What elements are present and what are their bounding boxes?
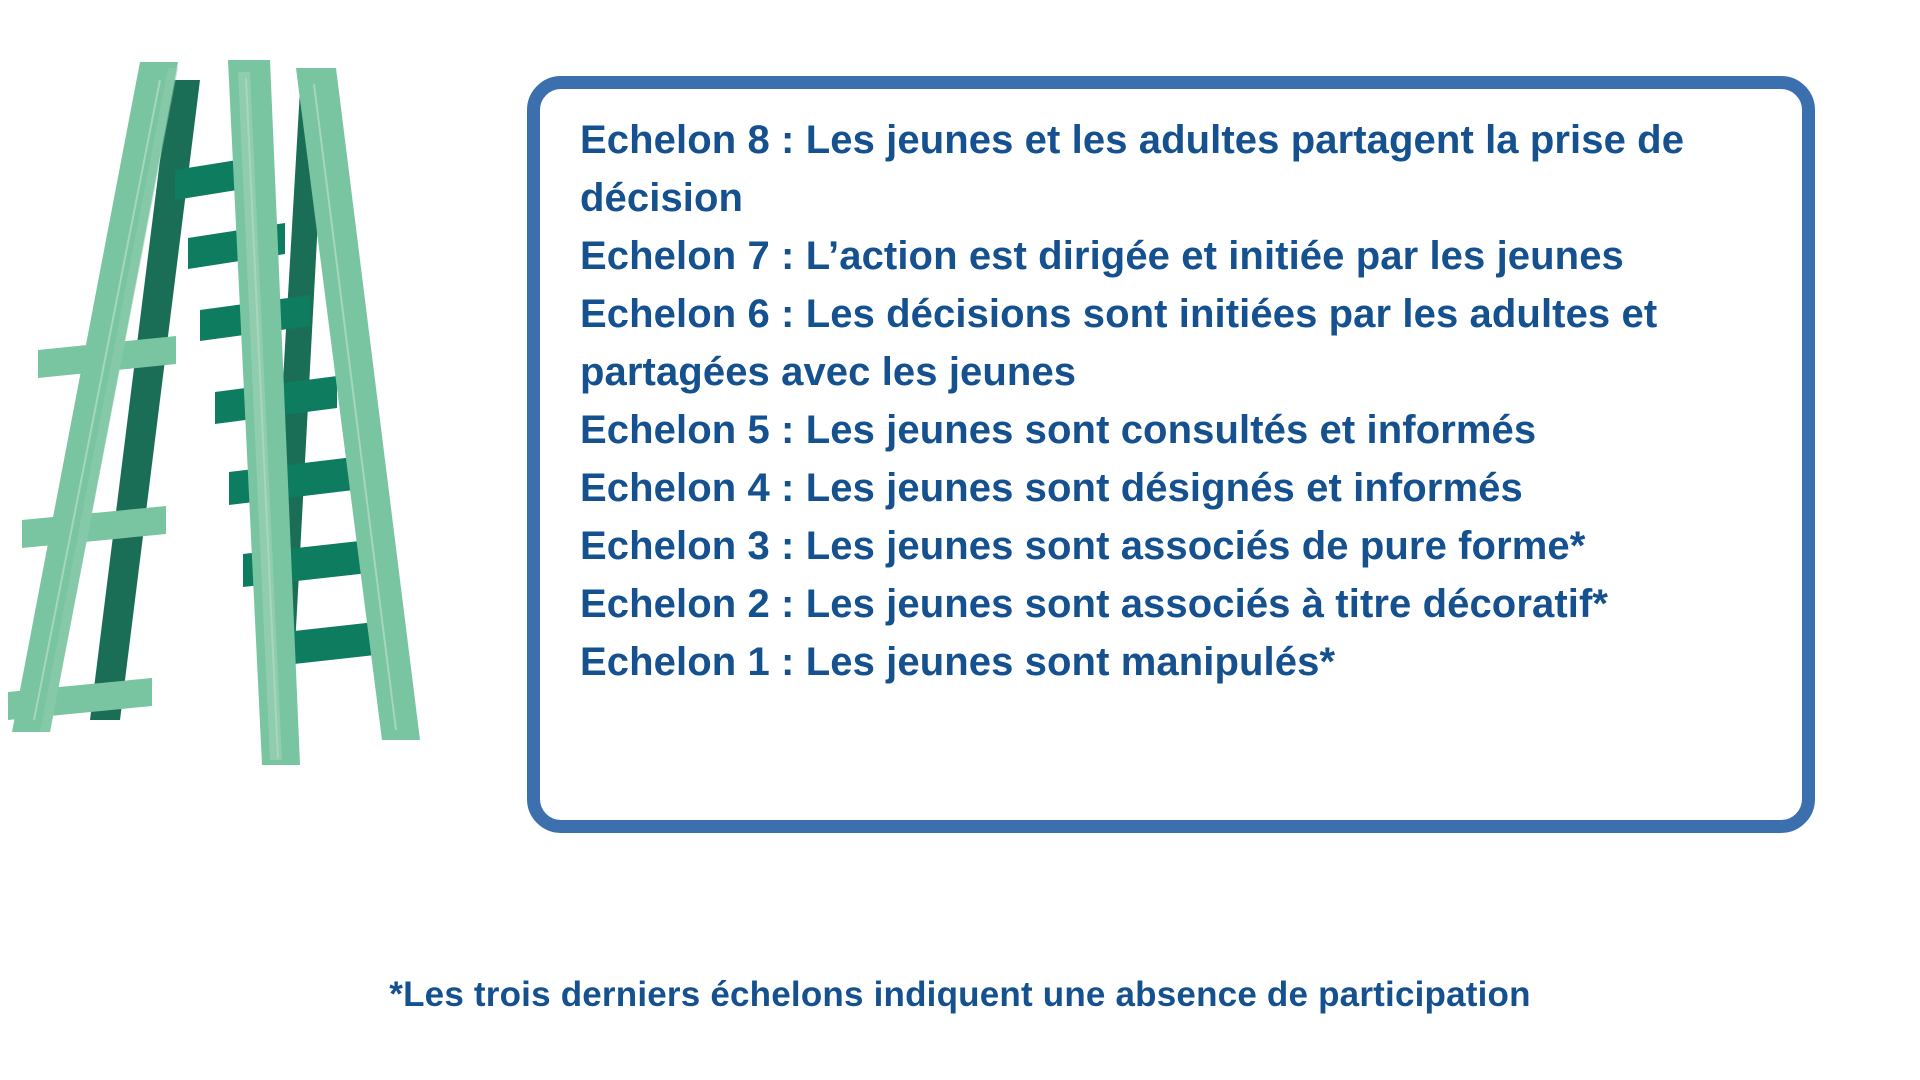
echelon-list: Echelon 8 : Les jeunes et les adultes pa… [580, 111, 1784, 691]
echelon-item-4: Echelon 4 : Les jeunes sont désignés et … [580, 459, 1784, 517]
echelon-item-1: Echelon 1 : Les jeunes sont manipulés* [580, 633, 1784, 691]
echelon-item-3: Echelon 3 : Les jeunes sont associés de … [580, 517, 1784, 575]
echelon-card: Echelon 8 : Les jeunes et les adultes pa… [527, 76, 1815, 833]
echelon-item-5: Echelon 5 : Les jeunes sont consultés et… [580, 401, 1784, 459]
echelon-item-8: Echelon 8 : Les jeunes et les adultes pa… [580, 111, 1784, 227]
echelon-item-2: Echelon 2 : Les jeunes sont associés à t… [580, 575, 1784, 633]
ladder-illustration [0, 20, 530, 950]
ladder-brace-middle [22, 506, 166, 548]
echelon-item-6: Echelon 6 : Les décisions sont initiées … [580, 285, 1784, 401]
echelon-item-7: Echelon 7 : L’action est dirigée et init… [580, 227, 1784, 285]
footnote: *Les trois derniers échelons indiquent u… [0, 975, 1920, 1015]
